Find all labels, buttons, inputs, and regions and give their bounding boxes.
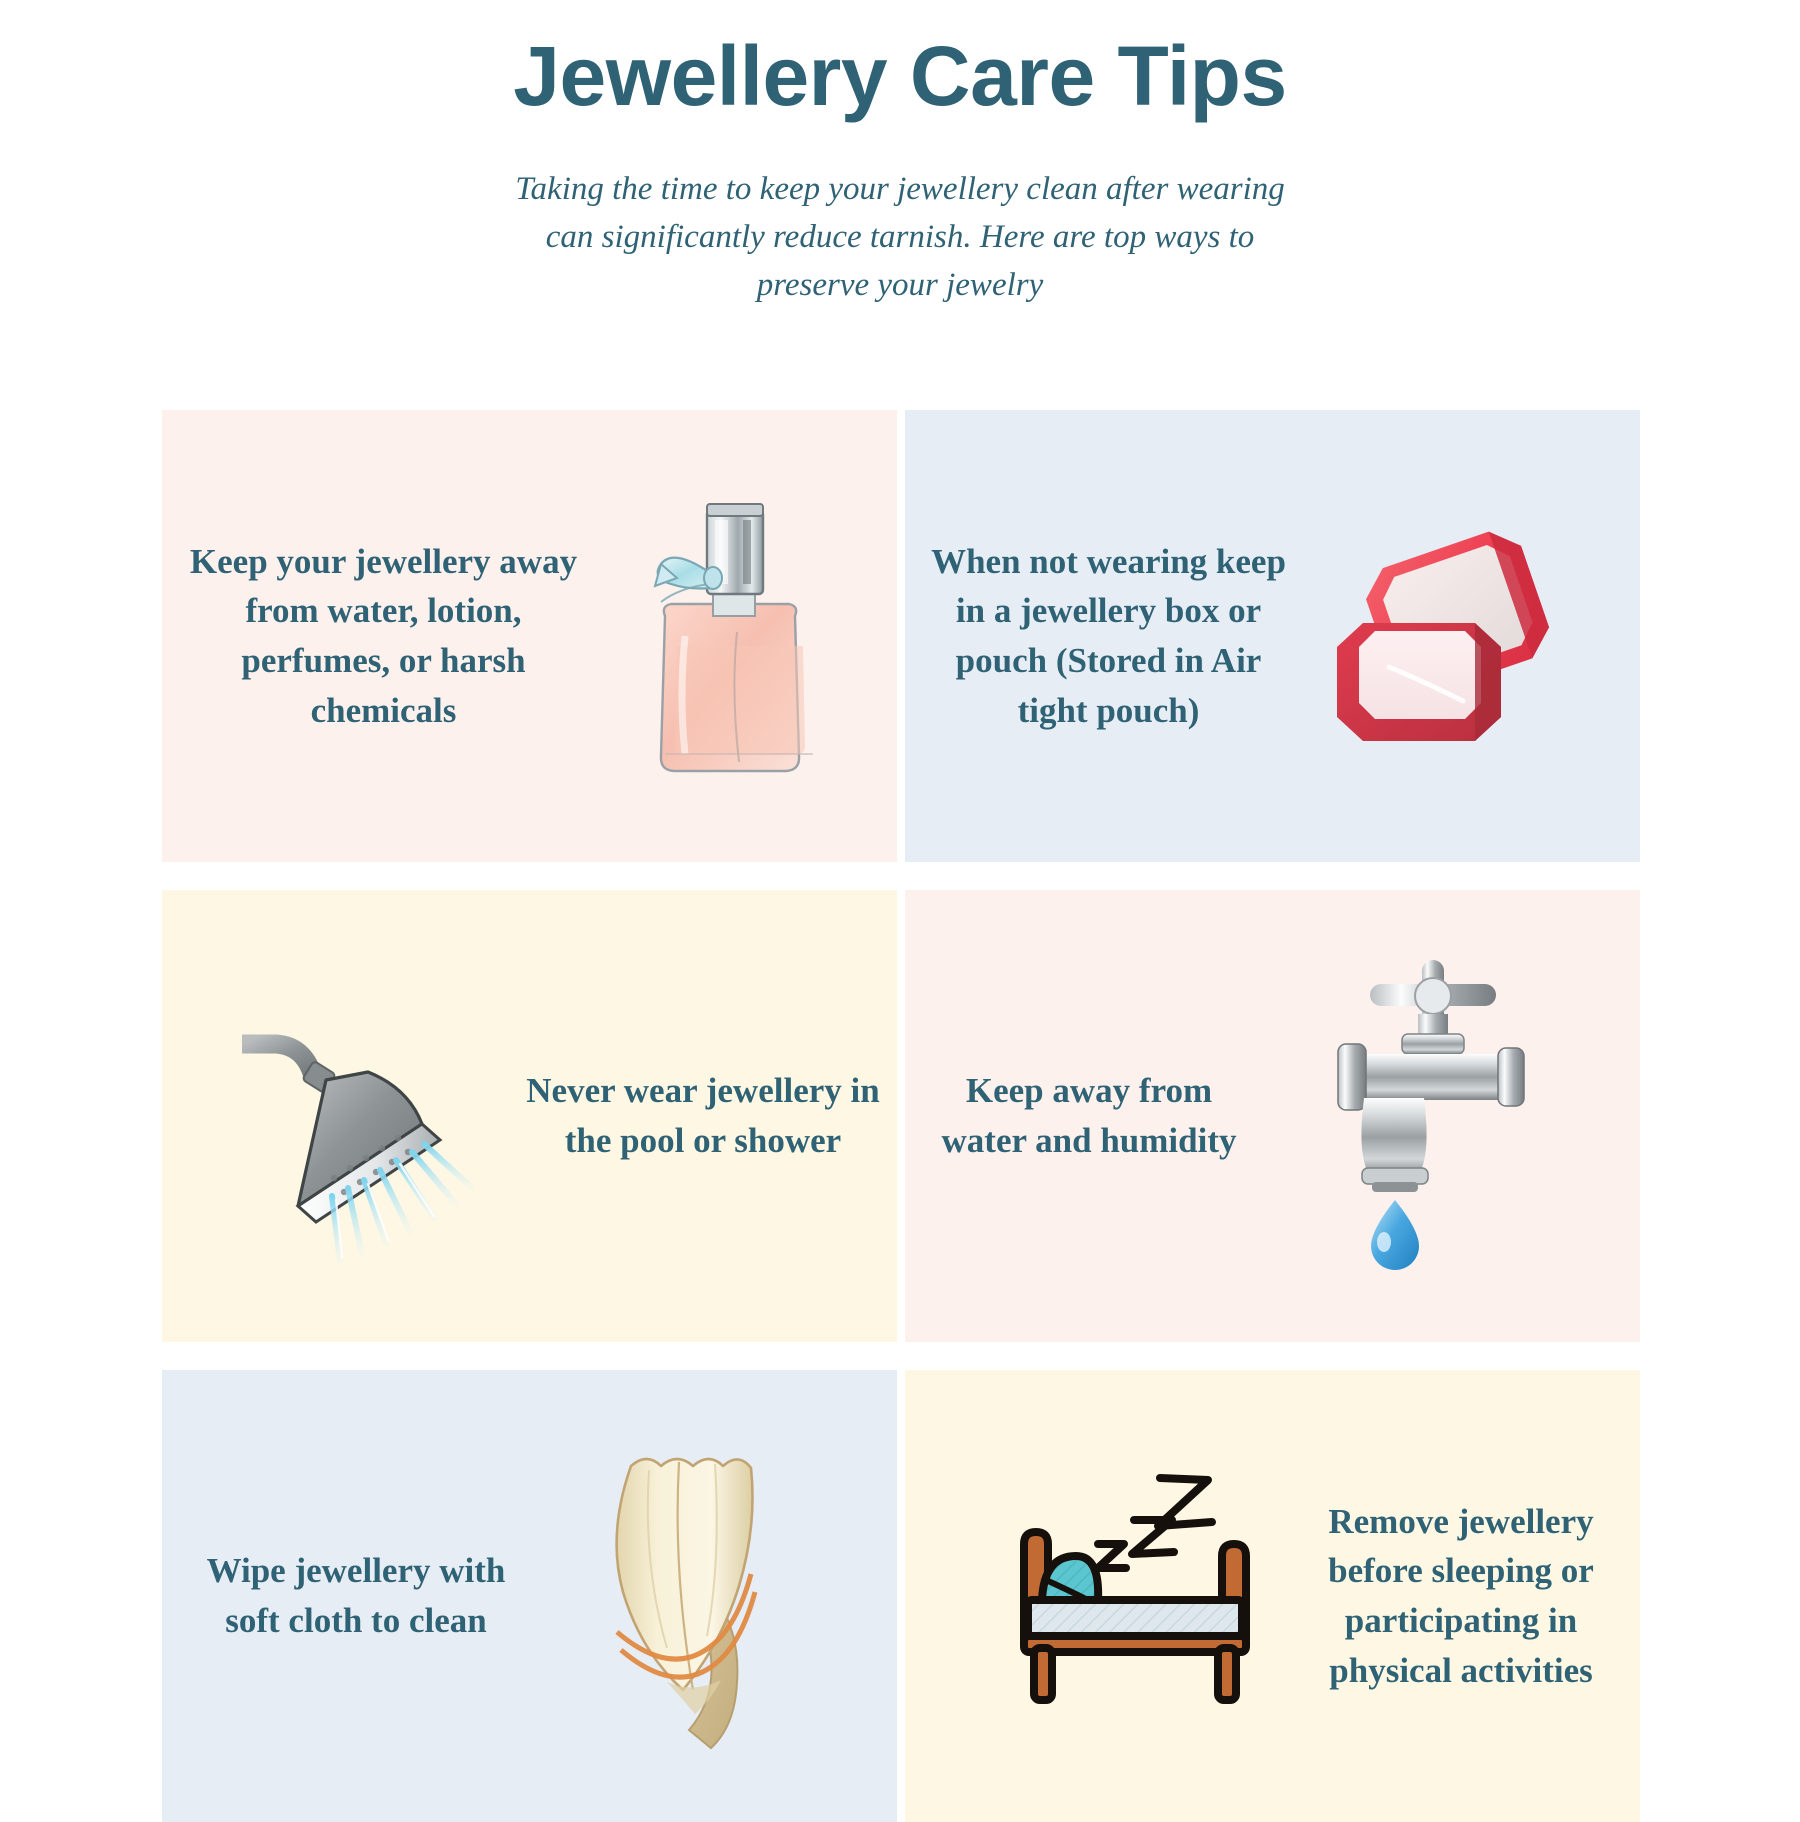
card-soft-cloth: Wipe jewellery with soft cloth to clean (162, 1370, 897, 1822)
shower-head-icon (219, 951, 509, 1281)
infographic-page: Jewellery Care Tips Taking the time to k… (0, 0, 1800, 1800)
card-pool-shower: Never wear jewellery in the pool or show… (162, 890, 897, 1342)
perfume-bottle-svg (625, 486, 855, 786)
card-sleep-activity-text: Remove jewellery before sleeping or part… (1282, 1497, 1640, 1696)
faucet-icon (1283, 951, 1583, 1281)
card-pool-shower-text: Never wear jewellery in the pool or show… (509, 1066, 897, 1165)
faucet-svg (1298, 956, 1568, 1276)
bed-sleep-icon (992, 1431, 1282, 1761)
card-chemicals: Keep your jewellery away from water, lot… (162, 410, 897, 862)
cloth-icon (550, 1431, 830, 1761)
cloth-svg (575, 1436, 805, 1756)
card-water-humidity-text: Keep away from water and humidity (905, 1066, 1273, 1165)
card-soft-cloth-text: Wipe jewellery with soft cloth to clean (162, 1546, 550, 1645)
shower-head-svg (234, 966, 494, 1266)
card-sleep-activity: Remove jewellery before sleeping or part… (905, 1370, 1640, 1822)
jewellery-box-svg (1335, 511, 1605, 761)
card-storage-text: When not wearing keep in a jewellery box… (905, 537, 1312, 736)
card-chemicals-text: Keep your jewellery away from water, lot… (162, 537, 605, 736)
page-title: Jewellery Care Tips (0, 32, 1800, 120)
page-subtitle: Taking the time to keep your jewellery c… (500, 166, 1300, 310)
card-storage: When not wearing keep in a jewellery box… (905, 410, 1640, 862)
jewellery-box-icon (1320, 471, 1620, 801)
perfume-bottle-icon (605, 471, 875, 801)
bed-sleep-svg (1002, 1456, 1272, 1736)
header: Jewellery Care Tips Taking the time to k… (0, 0, 1800, 310)
card-water-humidity: Keep away from water and humidity (905, 890, 1640, 1342)
tips-grid: Keep your jewellery away from water, lot… (162, 410, 1640, 1822)
